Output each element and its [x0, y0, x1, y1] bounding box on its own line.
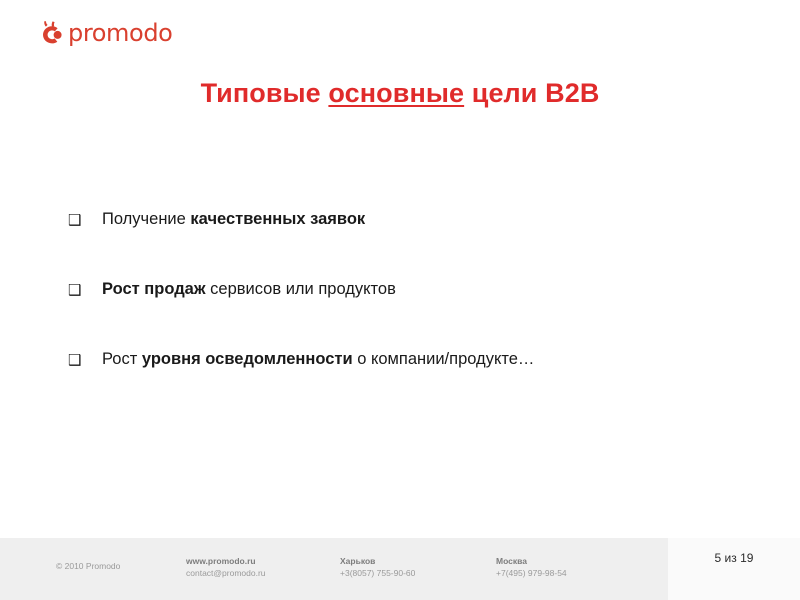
page-indicator: 5 из 19 — [668, 551, 800, 565]
slide-title: Типовые основные цели B2B — [0, 78, 800, 109]
logo-wordmark: promodo — [68, 21, 172, 45]
list-item-text: Рост уровня осведомленности о компании/п… — [102, 348, 534, 370]
footer-email[interactable]: contact@promodo.ru — [186, 567, 266, 579]
text-bold: качественных заявок — [190, 210, 365, 228]
list-item: ❑ Получение качественных заявок — [68, 208, 760, 278]
footer-city-name: Москва — [496, 555, 567, 567]
footer-copyright: © 2010 Promodo — [56, 560, 120, 572]
list-item-text: Рост продаж сервисов или продуктов — [102, 278, 396, 300]
title-underlined-word: основные — [328, 78, 464, 108]
footer-website[interactable]: www.promodo.ru — [186, 555, 266, 567]
title-part-1: Типовые — [201, 78, 329, 108]
promodo-logo[interactable]: promodo — [41, 17, 172, 47]
text-normal-tail: о компании/продукте… — [353, 350, 535, 368]
footer-office-moscow: Москва +7(495) 979-98-54 — [496, 555, 567, 579]
square-bullet-icon: ❑ — [68, 279, 102, 301]
footer-city-phone: +3(8057) 755-90-60 — [340, 567, 415, 579]
footer-office-kharkiv: Харьков +3(8057) 755-90-60 — [340, 555, 415, 579]
list-item-text: Получение качественных заявок — [102, 208, 365, 230]
footer-city-name: Харьков — [340, 555, 415, 567]
text-normal-tail: сервисов или продуктов — [206, 280, 396, 298]
text-bold: Рост продаж — [102, 280, 206, 298]
slide-canvas: promodo Типовые основные цели B2B ❑ Полу… — [0, 0, 800, 600]
copyright-text: © 2010 Promodo — [56, 560, 120, 572]
list-item: ❑ Рост продаж сервисов или продуктов — [68, 278, 760, 348]
text-normal: Рост — [102, 350, 142, 368]
title-part-2: цели B2B — [464, 78, 599, 108]
footer-city-phone: +7(495) 979-98-54 — [496, 567, 567, 579]
square-bullet-icon: ❑ — [68, 209, 102, 231]
bullet-list: ❑ Получение качественных заявок ❑ Рост п… — [68, 208, 760, 418]
list-item: ❑ Рост уровня осведомленности о компании… — [68, 348, 760, 418]
text-normal: Получение — [102, 210, 190, 228]
text-bold: уровня осведомленности — [142, 350, 353, 368]
footer-web-contact[interactable]: www.promodo.ru contact@promodo.ru — [186, 555, 266, 579]
promodo-bull-target-icon — [41, 20, 63, 44]
footer: © 2010 Promodo www.promodo.ru contact@pr… — [0, 538, 800, 600]
square-bullet-icon: ❑ — [68, 349, 102, 371]
